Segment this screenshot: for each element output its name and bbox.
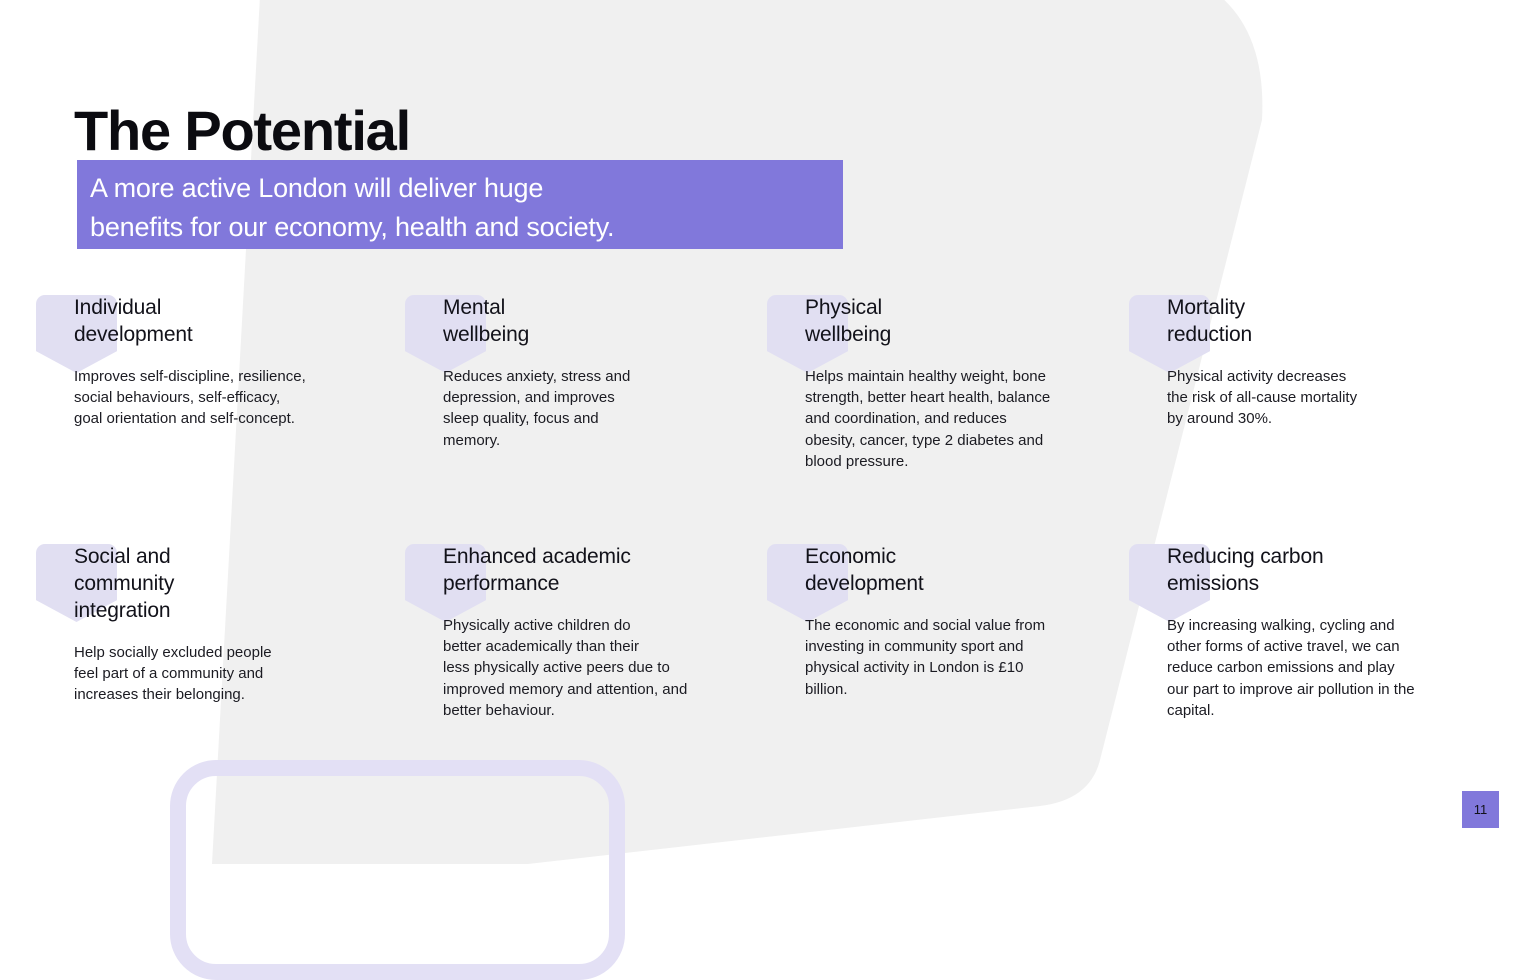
- card-body-line: Improves self-discipline, resilience,: [74, 366, 414, 387]
- card-title: Social and community integration: [74, 543, 404, 624]
- card-physical-wellbeing: Physical wellbeing Helps maintain health…: [805, 294, 1135, 472]
- card-title-line: wellbeing: [443, 321, 763, 348]
- card-title: Physical wellbeing: [805, 294, 1135, 348]
- banner-line-1: A more active London will deliver huge: [90, 169, 829, 208]
- card-title: Mental wellbeing: [443, 294, 763, 348]
- card-title-line: Mortality: [1167, 294, 1487, 321]
- card-body-line: The economic and social value from: [805, 615, 1135, 636]
- card-body: Reduces anxiety, stress and depression, …: [443, 366, 763, 451]
- card-body-line: better academically than their: [443, 636, 773, 657]
- card-economic-development: Economic development The economic and so…: [805, 543, 1135, 700]
- card-body-line: improved memory and attention, and: [443, 679, 773, 700]
- banner-line-2: benefits for our economy, health and soc…: [90, 208, 829, 247]
- card-body-line: social behaviours, self-efficacy,: [74, 387, 414, 408]
- card-body-line: Help socially excluded people: [74, 642, 404, 663]
- card-body-line: investing in community sport and: [805, 636, 1135, 657]
- card-body: The economic and social value from inves…: [805, 615, 1135, 700]
- card-body: Improves self-discipline, resilience, so…: [74, 366, 414, 430]
- card-body: By increasing walking, cycling and other…: [1167, 615, 1497, 721]
- card-mortality-reduction: Mortality reduction Physical activity de…: [1167, 294, 1487, 430]
- card-body-line: and coordination, and reduces: [805, 408, 1135, 429]
- card-reducing-carbon-emissions: Reducing carbon emissions By increasing …: [1167, 543, 1497, 721]
- card-body-line: capital.: [1167, 700, 1497, 721]
- card-body-line: our part to improve air pollution in the: [1167, 679, 1497, 700]
- card-title-line: Enhanced academic: [443, 543, 773, 570]
- card-body: Help socially excluded people feel part …: [74, 642, 404, 706]
- card-body-line: by around 30%.: [1167, 408, 1487, 429]
- card-body-line: By increasing walking, cycling and: [1167, 615, 1497, 636]
- card-body-line: less physically active peers due to: [443, 657, 773, 678]
- card-title-line: Individual: [74, 294, 414, 321]
- card-body-line: other forms of active travel, we can: [1167, 636, 1497, 657]
- card-body-line: goal orientation and self-concept.: [74, 408, 414, 429]
- card-title-line: performance: [443, 570, 773, 597]
- card-title-line: Physical: [805, 294, 1135, 321]
- card-body: Physically active children do better aca…: [443, 615, 773, 721]
- card-body-line: Helps maintain healthy weight, bone: [805, 366, 1135, 387]
- card-title: Economic development: [805, 543, 1135, 597]
- card-body-line: depression, and improves: [443, 387, 763, 408]
- card-body-line: strength, better heart health, balance: [805, 387, 1135, 408]
- card-body-line: better behaviour.: [443, 700, 773, 721]
- card-title-line: Economic: [805, 543, 1135, 570]
- card-title-line: wellbeing: [805, 321, 1135, 348]
- card-title: Reducing carbon emissions: [1167, 543, 1497, 597]
- page-title: The Potential: [74, 100, 410, 162]
- page-number-badge: 11: [1462, 791, 1499, 828]
- card-body-line: increases their belonging.: [74, 684, 404, 705]
- card-title-line: Social and: [74, 543, 404, 570]
- card-body-line: blood pressure.: [805, 451, 1135, 472]
- card-title: Enhanced academic performance: [443, 543, 773, 597]
- card-body-line: the risk of all-cause mortality: [1167, 387, 1487, 408]
- card-title-line: emissions: [1167, 570, 1497, 597]
- card-body-line: physical activity in London is £10: [805, 657, 1135, 678]
- card-body: Helps maintain healthy weight, bone stre…: [805, 366, 1135, 472]
- card-body-line: sleep quality, focus and: [443, 408, 763, 429]
- card-title: Mortality reduction: [1167, 294, 1487, 348]
- card-body-line: Physically active children do: [443, 615, 773, 636]
- card-body-line: feel part of a community and: [74, 663, 404, 684]
- card-body-line: Physical activity decreases: [1167, 366, 1487, 387]
- card-title-line: development: [805, 570, 1135, 597]
- card-social-community-integration: Social and community integration Help so…: [74, 543, 404, 706]
- highlight-banner: A more active London will deliver huge b…: [77, 160, 843, 249]
- card-body-line: memory.: [443, 430, 763, 451]
- card-body-line: billion.: [805, 679, 1135, 700]
- card-title-line: community: [74, 570, 404, 597]
- card-body-line: reduce carbon emissions and play: [1167, 657, 1497, 678]
- card-title-line: Reducing carbon: [1167, 543, 1497, 570]
- card-body: Physical activity decreases the risk of …: [1167, 366, 1487, 430]
- card-title-line: reduction: [1167, 321, 1487, 348]
- card-body-line: obesity, cancer, type 2 diabetes and: [805, 430, 1135, 451]
- card-title-line: integration: [74, 597, 404, 624]
- card-title-line: development: [74, 321, 414, 348]
- card-body-line: Reduces anxiety, stress and: [443, 366, 763, 387]
- card-title-line: Mental: [443, 294, 763, 321]
- card-title: Individual development: [74, 294, 414, 348]
- card-enhanced-academic-performance: Enhanced academic performance Physically…: [443, 543, 773, 721]
- card-mental-wellbeing: Mental wellbeing Reduces anxiety, stress…: [443, 294, 763, 451]
- card-individual-development: Individual development Improves self-dis…: [74, 294, 414, 430]
